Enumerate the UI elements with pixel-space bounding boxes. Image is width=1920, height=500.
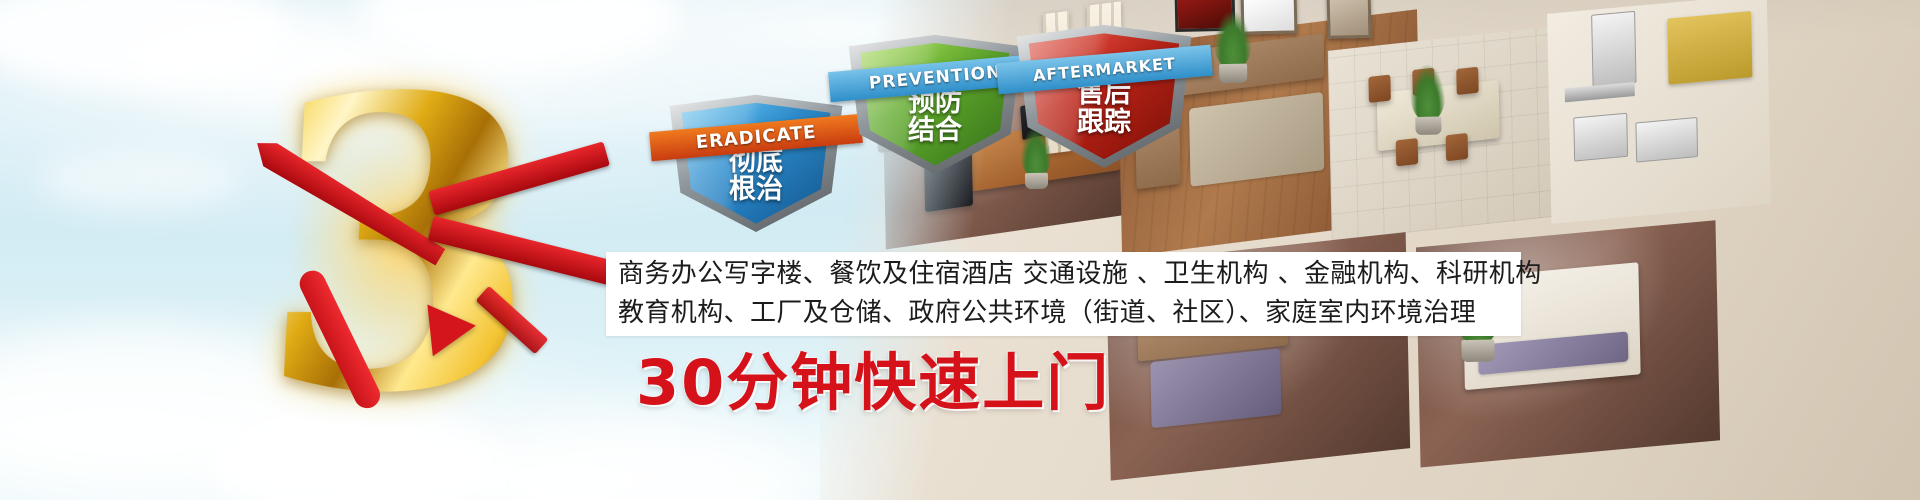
kitchen-cabinet — [1667, 11, 1752, 85]
dining-chair — [1396, 138, 1418, 166]
service-scope-line-2: 教育机构、工厂及仓储、政府公共环境（街道、社区）、家庭室内环境治理 — [618, 294, 1521, 333]
shield-cn-line2: 根治 — [666, 176, 846, 204]
plant-pot — [1415, 116, 1441, 135]
dining-chair — [1368, 75, 1390, 103]
shield-badge-aftermarket: 售后 跟踪 AFTERMARKET — [1013, 22, 1195, 168]
potted-plant — [1402, 64, 1453, 135]
shield-badge-eradicate: 彻底 根治 ERADICATE — [666, 92, 846, 232]
service-scope-panel: 商务办公写字楼、餐饮及住宿酒店 交通设施 、卫生机构 、金融机构、科研机构 教育… — [606, 252, 1521, 336]
promo-headline: 30分钟快速上门 — [636, 348, 1110, 418]
promo-banner: 3 彻底 根治 ERADICATE 预防 结合 PREVENTION — [0, 0, 1920, 500]
plant-leaves — [1213, 10, 1252, 68]
arrow-head — [427, 300, 478, 357]
refrigerator — [1591, 11, 1636, 87]
plant-pot — [1025, 173, 1048, 190]
shield-cn-line2: 结合 — [845, 117, 1025, 145]
dining-chair — [1446, 133, 1468, 161]
dining-chair — [1456, 67, 1478, 95]
service-scope-line-1: 商务办公写字楼、餐饮及住宿酒店 交通设施 、卫生机构 、金融机构、科研机构 — [618, 255, 1521, 294]
cloud-decoration — [40, 150, 240, 210]
plant-pot — [1461, 339, 1495, 362]
wall-picture — [1326, 0, 1371, 39]
oven-appliance — [1573, 113, 1628, 162]
plant-leaves — [1410, 64, 1446, 121]
arrow-shaft — [295, 266, 384, 412]
shield-badge-prevention: 预防 结合 PREVENTION — [845, 32, 1025, 174]
red-arrow-icon — [292, 266, 492, 436]
stove-hob — [1635, 117, 1698, 163]
shield-cn-line2: 跟踪 — [1013, 109, 1195, 137]
potted-plant — [1205, 10, 1260, 83]
lounge-rug — [1150, 348, 1281, 428]
shield-ribbon-label: ERADICATE — [695, 122, 817, 153]
plant-pot — [1219, 64, 1247, 83]
